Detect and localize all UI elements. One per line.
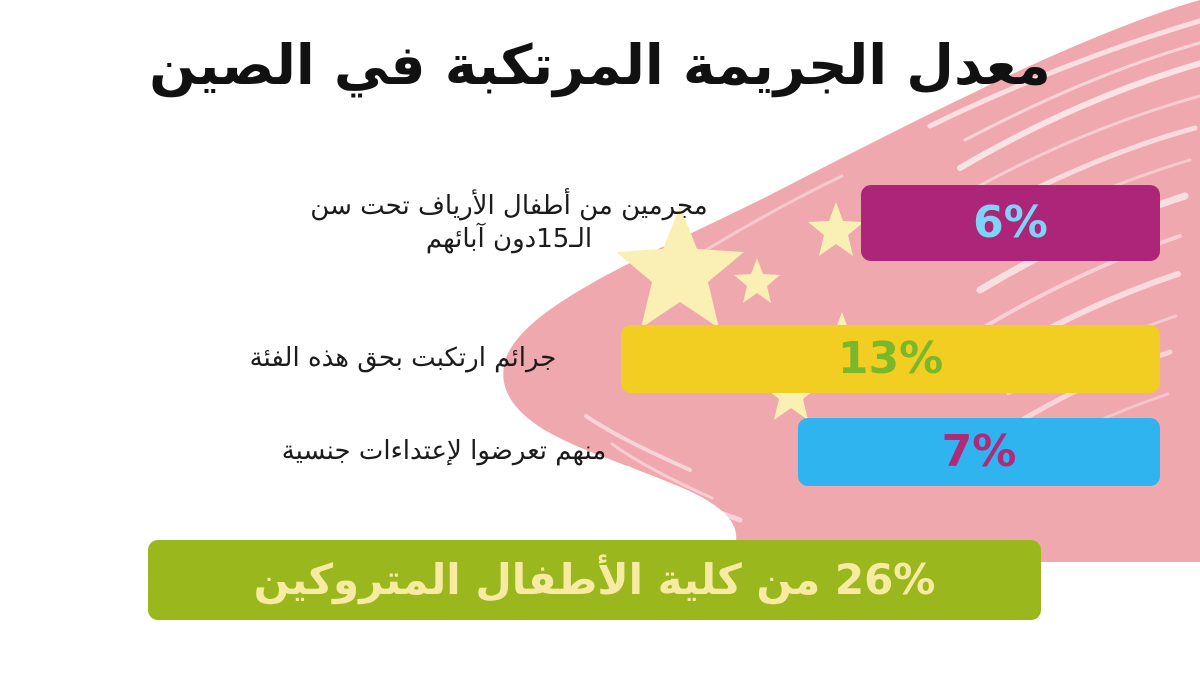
stat-inline-description: 26% من كلية الأطفال المتروكين xyxy=(254,559,936,601)
infographic-canvas: معدل الجريمة المرتكبة في الصين 6% مجرمين… xyxy=(0,0,1200,675)
stat-row: 13% جرائم ارتكبت بحق هذه الفئة xyxy=(148,325,1160,393)
page-title: معدل الجريمة المرتكبة في الصين xyxy=(82,34,1118,97)
stat-row: 7% منهم تعرضوا لإعتداءات جنسية xyxy=(148,418,1160,486)
stat-bar-blue: 7% xyxy=(798,418,1160,486)
stat-value-label: 6% xyxy=(973,201,1048,245)
stat-bar-green: 26% من كلية الأطفال المتروكين xyxy=(148,540,1041,620)
stat-description: منهم تعرضوا لإعتداءات جنسية xyxy=(194,435,694,468)
stat-bar-magenta: 6% xyxy=(861,185,1160,261)
flag-star-small-4 xyxy=(734,258,780,303)
stat-value-label: 13% xyxy=(838,337,943,381)
stat-bar-yellow: 13% xyxy=(621,325,1160,393)
stat-description: مجرمين من أطفال الأرياف تحت سن الـ15دون … xyxy=(259,190,759,257)
stat-description: جرائم ارتكبت بحق هذه الفئة xyxy=(193,342,613,375)
stat-row: 26% من كلية الأطفال المتروكين xyxy=(148,540,1041,620)
stat-value-label: 7% xyxy=(942,430,1017,474)
stat-row: 6% مجرمين من أطفال الأرياف تحت سن الـ15د… xyxy=(148,185,1160,261)
